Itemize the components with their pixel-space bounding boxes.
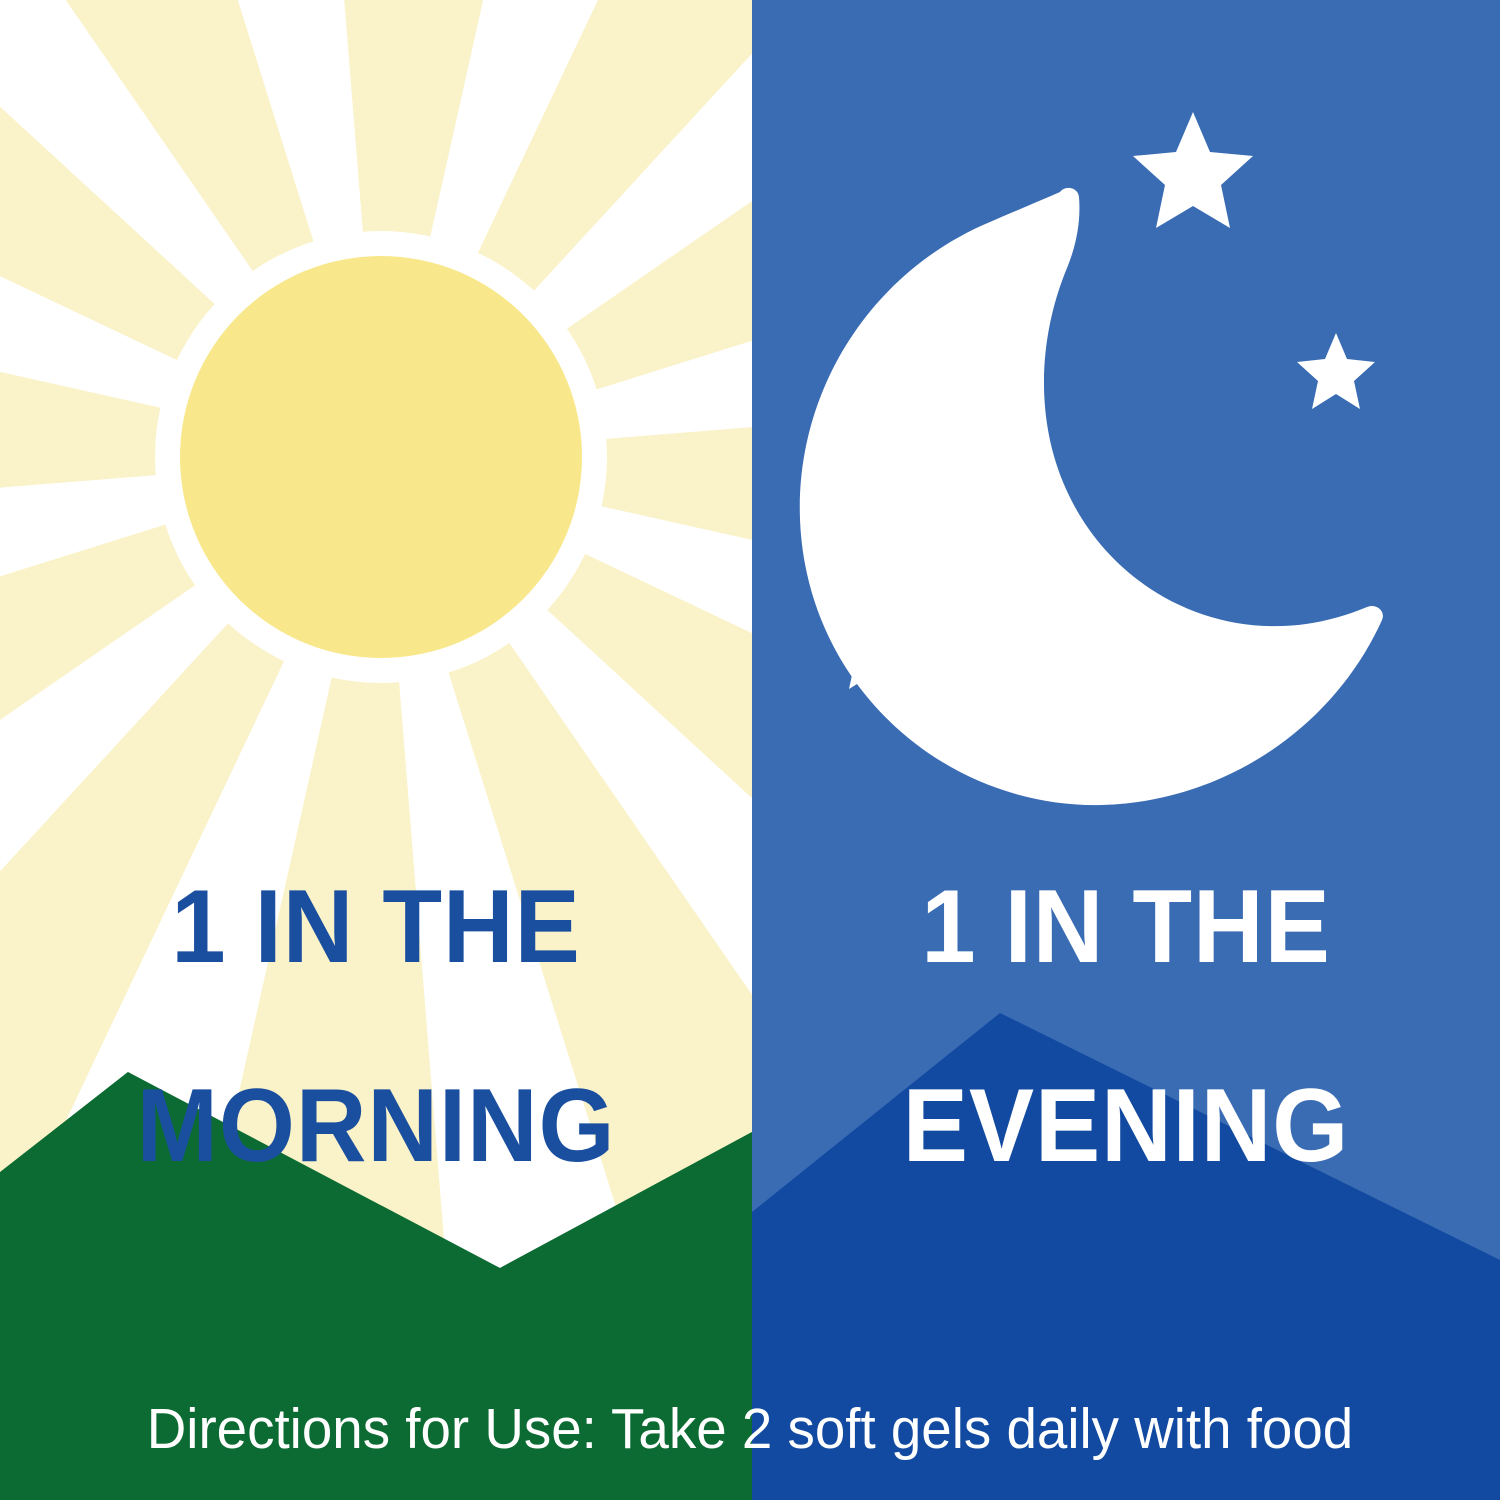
sun-icon xyxy=(180,256,582,658)
evening-headline-line-1: 1 IN THE xyxy=(774,878,1477,978)
directions-for-use-text: Directions for Use: Take 2 soft gels dai… xyxy=(30,1400,1470,1460)
morning-headline: 1 IN THE MORNING xyxy=(23,778,730,1277)
morning-headline-line-2: MORNING xyxy=(23,1077,730,1177)
morning-headline-line-1: 1 IN THE xyxy=(23,878,730,978)
evening-headline-line-2: EVENING xyxy=(774,1077,1477,1177)
product-infographic: 1 IN THE MORNING 1 IN THE EVENING Direct… xyxy=(0,0,1500,1500)
evening-headline: 1 IN THE EVENING xyxy=(774,778,1477,1277)
